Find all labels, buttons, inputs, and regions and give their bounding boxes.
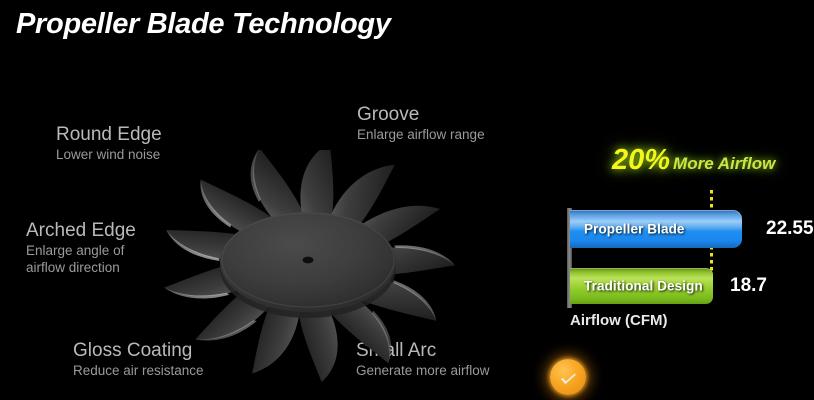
callout-groove: Groove Enlarge airflow range	[357, 103, 485, 143]
callout-arched-edge: Arched Edge Enlarge angle of airflow dir…	[26, 219, 136, 276]
bar-propeller-blade: Propeller Blade 22.55	[570, 210, 742, 248]
bar-label: Traditional Design	[584, 279, 703, 294]
page-title: Propeller Blade Technology	[16, 8, 391, 41]
chart-headline: 20%More Airflow	[612, 144, 775, 177]
airflow-chart: 20%More Airflow Propeller Blade 22.55 Tr…	[556, 140, 814, 332]
bar-value: 22.55	[766, 218, 814, 240]
headline-percent: 20%	[612, 144, 670, 176]
callout-subtext-line2: airflow direction	[26, 259, 136, 276]
callout-subtext: Enlarge angle of	[26, 242, 136, 259]
callout-heading: Arched Edge	[26, 219, 136, 242]
fan-render	[140, 150, 480, 390]
chevron-down-icon	[562, 371, 575, 384]
callout-heading: Round Edge	[56, 123, 162, 146]
callout-subtext: Enlarge airflow range	[357, 126, 485, 143]
chart-axis-label: Airflow (CFM)	[570, 312, 667, 329]
slide-canvas: Propeller Blade Technology Round Edge Lo…	[0, 0, 814, 400]
chevron-down-icon-badge[interactable]	[550, 359, 586, 395]
fan-hub	[220, 212, 396, 318]
bar-label: Propeller Blade	[584, 222, 685, 237]
headline-text: More Airflow	[673, 154, 775, 173]
propeller-fan-illustration	[140, 150, 480, 390]
callout-heading: Groove	[357, 103, 485, 126]
bar-value: 18.7	[730, 275, 767, 297]
bar-traditional-design: Traditional Design 18.7	[570, 268, 713, 304]
